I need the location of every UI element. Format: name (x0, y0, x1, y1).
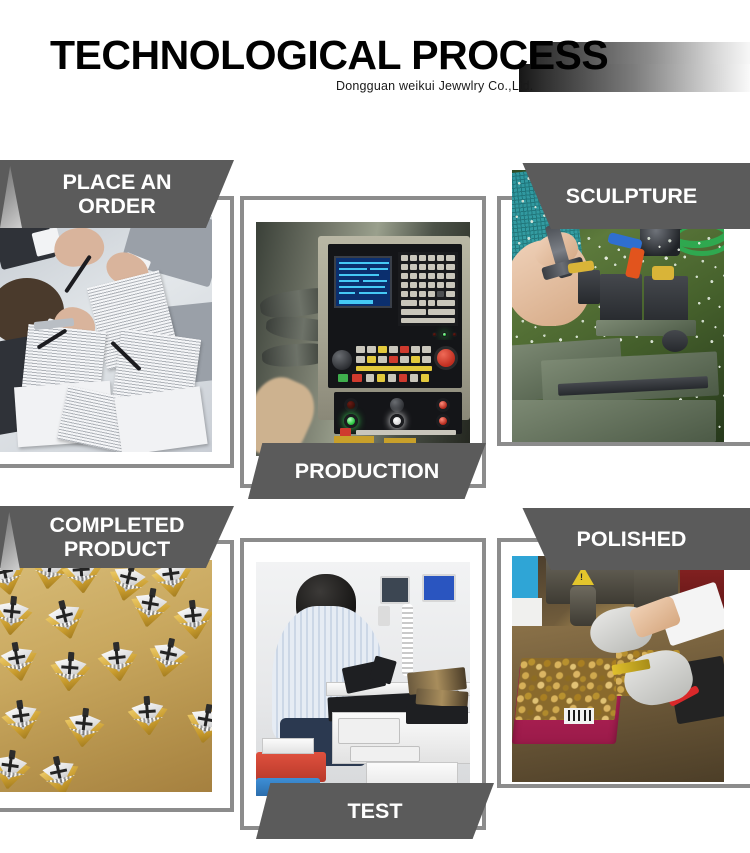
header: TECHNOLOGICAL PROCESS Dongguan weikui Je… (0, 0, 750, 150)
banner-place-an-order: PLACE AN ORDER (0, 160, 234, 228)
finished-pendants-photo (0, 560, 212, 792)
company-subtitle: Dongguan weikui Jewwlry Co.,Ltd. (336, 79, 533, 93)
polishing-station-photo: ! (512, 556, 724, 782)
banner-completed-product: COMPLETED PRODUCT (0, 506, 234, 568)
page-title: TECHNOLOGICAL PROCESS (50, 32, 608, 79)
banner-test: TEST (256, 783, 494, 839)
banner-production: PRODUCTION (248, 443, 486, 499)
banner-label: TEST (348, 799, 403, 823)
banner-polished: POLISHED (513, 508, 750, 570)
banner-label: SCULPTURE (566, 184, 697, 208)
banner-label: PRODUCTION (295, 459, 440, 483)
cnc-machine-photo (256, 222, 470, 456)
quality-test-photo (256, 562, 470, 796)
banner-label-line-2: PRODUCT (50, 537, 185, 561)
technological-process-poster: TECHNOLOGICAL PROCESS Dongguan weikui Je… (0, 0, 750, 853)
banner-label: POLISHED (577, 527, 687, 551)
banner-sculpture: SCULPTURE (513, 163, 750, 229)
banner-label-line-1: PLACE AN (62, 170, 171, 194)
business-meeting-photo (0, 216, 212, 452)
banner-label-line-1: COMPLETED (50, 513, 185, 537)
banner-label-line-2: ORDER (62, 194, 171, 218)
